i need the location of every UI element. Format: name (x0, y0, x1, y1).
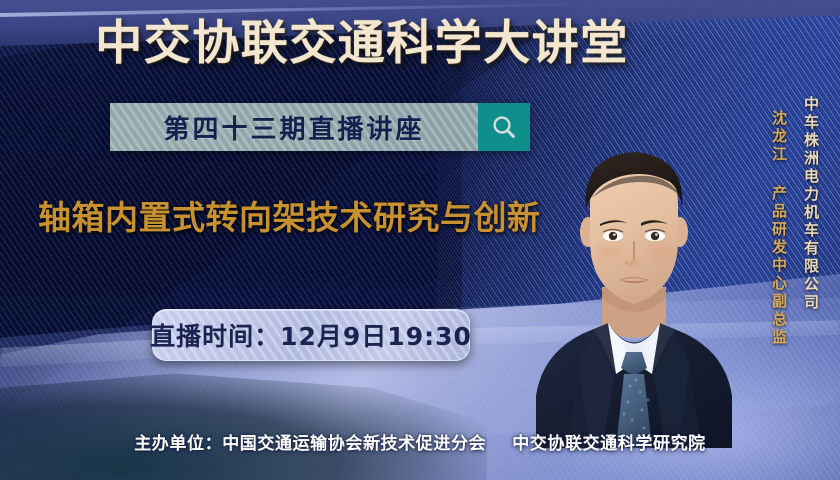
speaker-portrait (528, 112, 740, 448)
broadcast-time-text: 直播时间：12月9日19:30 (150, 317, 472, 353)
episode-banner-fill: 第四十三期直播讲座 (110, 103, 478, 151)
search-icon (478, 103, 530, 151)
speaker-name-and-role: 沈龙江 产品研发中心副总监 (768, 96, 790, 347)
organizers-footer: 主办单位：中国交通运输协会新技术促进分会中交协联交通科学研究院 (0, 429, 840, 454)
speaker-credits: 沈龙江 产品研发中心副总监 中车株洲电力机车有限公司 (768, 96, 822, 347)
speaker-organization: 中车株洲电力机车有限公司 (800, 96, 822, 312)
episode-label: 第四十三期直播讲座 (110, 103, 478, 151)
lecture-topic-title: 轴箱内置式转向架技术研究与创新 (38, 196, 598, 240)
episode-banner: 第四十三期直播讲座 (110, 103, 530, 151)
page-title: 中交协联交通科学大讲堂 (0, 14, 724, 74)
webinar-poster: 中交协联交通科学大讲堂 第四十三期直播讲座 轴箱内置式转向架技术研究与创新 直播… (0, 0, 840, 480)
organizer-primary: 中国交通运输协会新技术促进分会 (222, 434, 486, 454)
organizer-prefix: 主办单位： (134, 434, 222, 454)
organizer-secondary: 中交协联交通科学研究院 (512, 434, 706, 454)
broadcast-time-badge: 直播时间：12月9日19:30 (152, 309, 470, 361)
